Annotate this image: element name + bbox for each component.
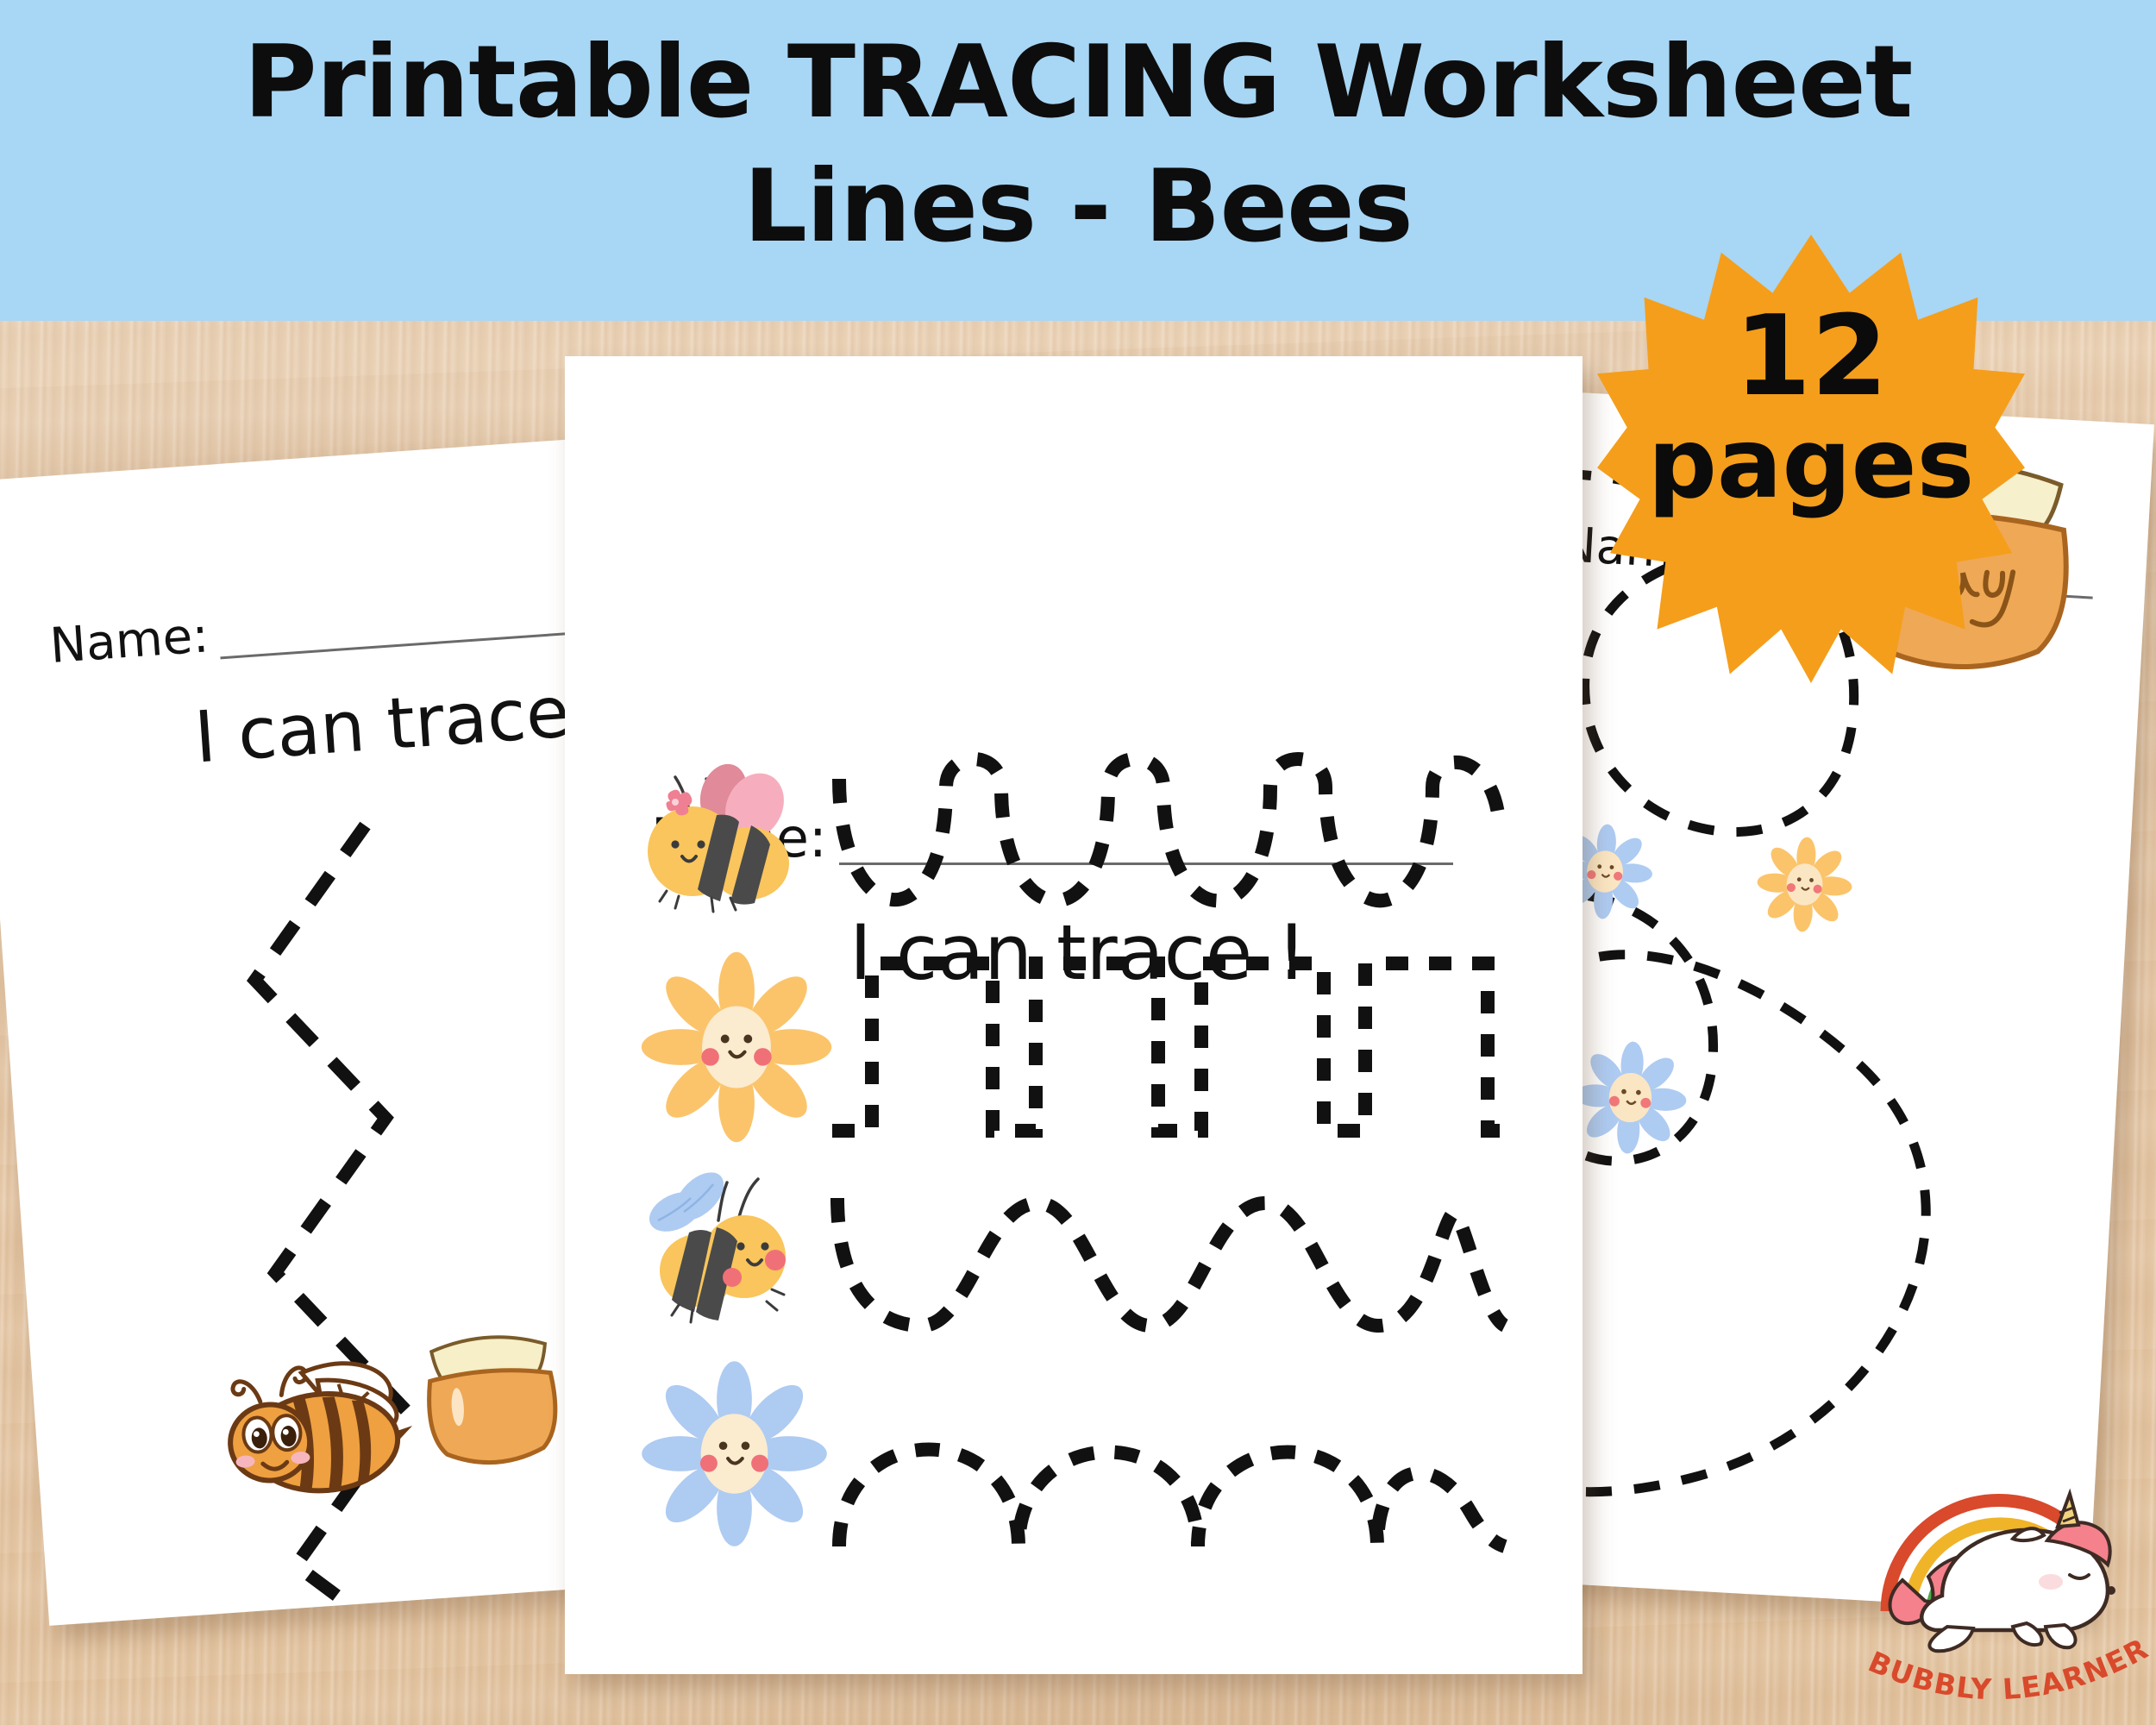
- bee-blue-wings-icon: [642, 1167, 824, 1331]
- brand-name: BUBBLY LEARNERS: [1852, 1642, 2151, 1725]
- trace-path-arches: [832, 1383, 1522, 1555]
- flower-blue-small-icon-2: [1571, 1038, 1689, 1157]
- page-count-number: 12: [1597, 302, 2025, 412]
- trace-path-sine-wave: [832, 1184, 1522, 1348]
- worksheet-title-left: I can trace !: [192, 668, 624, 779]
- name-label-left: Name:: [48, 611, 221, 671]
- page-count-unit: pages: [1597, 416, 2025, 512]
- bee-pink-wings-icon: [641, 762, 822, 925]
- trace-path-square-wave: [832, 951, 1522, 1141]
- flower-yellow-icon: [655, 965, 818, 1129]
- page-count-badge: 12 pages: [1597, 235, 2025, 683]
- worksheet-middle: Name: I can trace !: [565, 356, 1583, 1674]
- name-row-left: Name:: [48, 586, 585, 671]
- trace-path-tall-rounded-waves: [832, 762, 1522, 943]
- honey-jar-icon-left: [399, 1304, 583, 1479]
- name-input-line-left[interactable]: [218, 599, 586, 659]
- title-line-1: Printable TRACING Worksheet: [0, 24, 2156, 141]
- brand-logo: BUBBLY LEARNERS: [1852, 1396, 2151, 1725]
- flower-yellow-small-icon: [1755, 835, 1855, 935]
- unicorn-rainbow-icon: [1852, 1396, 2151, 1654]
- flower-blue-icon: [655, 1374, 814, 1534]
